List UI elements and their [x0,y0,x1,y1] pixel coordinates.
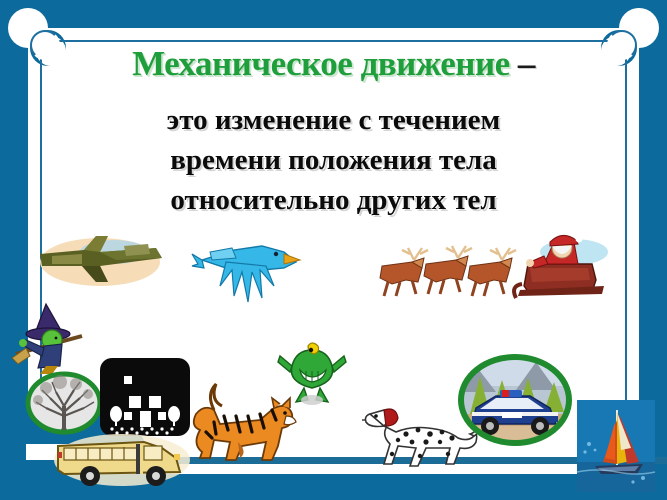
police-car-oval [456,352,574,448]
definition-line-1: это изменение с течением [0,104,667,137]
slide-title-text: Механическое движение [132,44,510,83]
witch-broomstick [12,296,88,374]
fighter-jet [38,232,163,294]
slide-canvas: Механическое движение – это изменение с … [0,0,667,500]
slide-title: Механическое движение – [0,44,667,84]
sailboat [577,400,655,492]
definition-line-2: времени положения тела [0,144,667,177]
blue-bird [192,240,302,308]
tiger [186,380,304,466]
school-bus [48,424,190,490]
definition-line-3: относительно других тел [0,184,667,217]
santa-sleigh [378,236,608,310]
slide-title-dash: – [510,44,535,83]
